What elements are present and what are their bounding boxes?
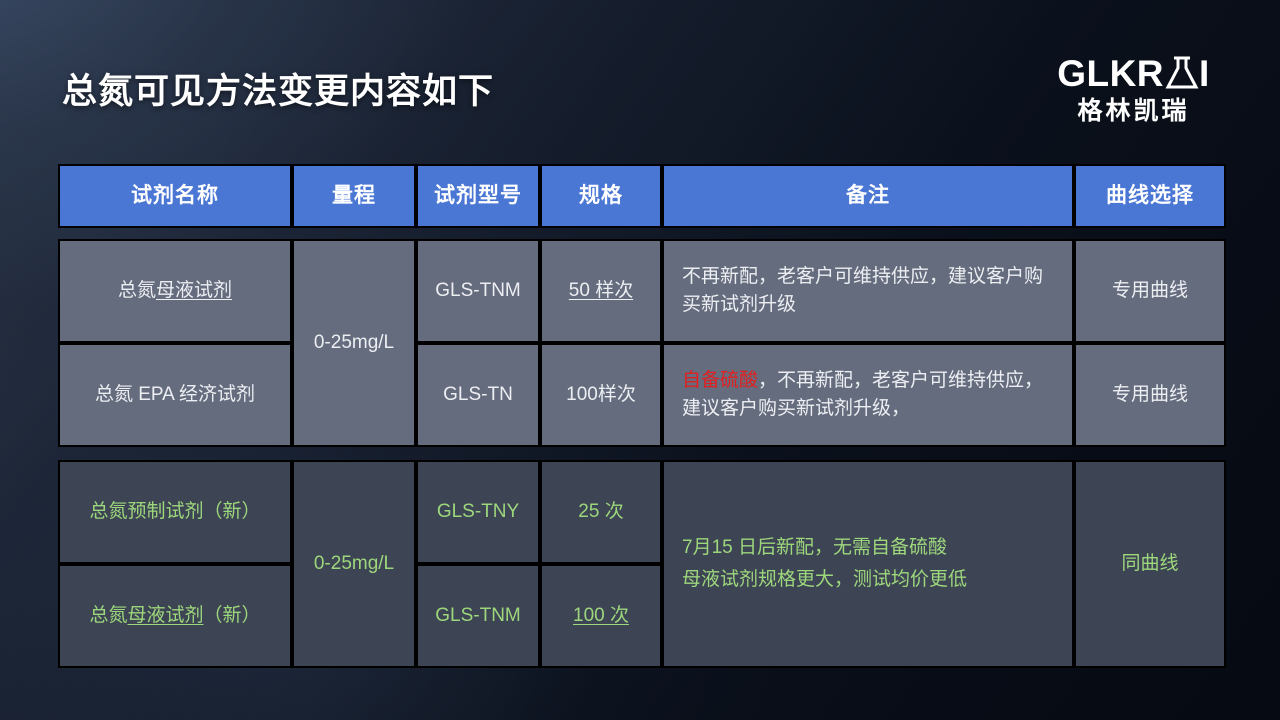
- reagent-name-text: 总氮母液试剂（新）: [89, 602, 260, 630]
- reagent-name-underlined: 母液试剂: [156, 280, 232, 301]
- column-header-remark: 备注: [662, 164, 1074, 228]
- reagent-name-text: 总氮母液试剂: [118, 277, 232, 305]
- curve-cell: 专用曲线: [1074, 343, 1226, 447]
- model-cell: GLS-TNM: [416, 239, 540, 343]
- section-spec-column: 50 样次 100样次: [540, 239, 662, 447]
- section-spec-column: 25 次 100 次: [540, 460, 662, 668]
- reagent-name-plain: 总氮: [118, 280, 156, 301]
- table-row: 总氮预制试剂（新）: [58, 460, 292, 564]
- logo-subtitle: 格林凯瑞: [1031, 99, 1236, 124]
- section-remark-column: 不再新配，老客户可维持供应，建议客户购买新试剂升级 自备硫酸，不再新配，老客户可…: [662, 239, 1074, 447]
- reagent-name-text: 总氮 EPA 经济试剂: [95, 381, 255, 409]
- spec-cell: 25 次: [540, 460, 662, 564]
- spec-cell: 50 样次: [540, 239, 662, 343]
- page-title: 总氮可见方法变更内容如下: [62, 63, 494, 114]
- spec-cell: 100 次: [540, 564, 662, 668]
- logo-wordmark: GLK R I: [1031, 52, 1236, 94]
- remark-text-composite: 自备硫酸，不再新配，老客户可维持供应，建议客户购买新试剂升级，: [682, 367, 1058, 422]
- column-header-reagent-name: 试剂名称: [58, 164, 292, 228]
- curve-cell-merged: 同曲线: [1074, 460, 1226, 668]
- spec-text: 100 次: [573, 602, 629, 630]
- remark-cell: 不再新配，老客户可维持供应，建议客户购买新试剂升级: [662, 239, 1074, 343]
- table-section-old-reagents: 总氮母液试剂 总氮 EPA 经济试剂 0-25mg/L GLS-TNM GLS-…: [58, 239, 1226, 447]
- table-section-new-reagents: 总氮预制试剂（新） 总氮母液试剂（新） 0-25mg/L GLS-TNY GLS…: [58, 460, 1226, 668]
- flask-icon: [1165, 55, 1199, 91]
- model-cell: GLS-TNM: [416, 564, 540, 668]
- reagent-name-suffix: （新）: [204, 501, 261, 522]
- logo-text-left: GLK: [1057, 55, 1137, 92]
- remark-cell: 自备硫酸，不再新配，老客户可维持供应，建议客户购买新试剂升级，: [662, 343, 1074, 447]
- reagent-name-plain: 总氮: [89, 605, 127, 626]
- column-header-spec: 规格: [540, 164, 662, 228]
- logo-text-right: I: [1199, 55, 1210, 92]
- section-curve-column: 专用曲线 专用曲线: [1074, 239, 1226, 447]
- remark-text-merged: 7月15 日后新配，无需自备硫酸 母液试剂规格更大，测试均价更低: [682, 532, 967, 597]
- reagent-name-text: 总氮预制试剂（新）: [89, 498, 260, 526]
- section-name-column: 总氮母液试剂 总氮 EPA 经济试剂: [58, 239, 292, 447]
- reagent-name-suffix: （新）: [204, 605, 261, 626]
- curve-cell: 专用曲线: [1074, 239, 1226, 343]
- reagent-name-plain: 总氮预制试剂: [89, 501, 203, 522]
- remark-text: 不再新配，老客户可维持供应，建议客户购买新试剂升级: [682, 263, 1058, 318]
- slide-canvas: 总氮可见方法变更内容如下 GLK R I 格林凯瑞 试剂名称 量程 试剂型号 规…: [0, 0, 1280, 720]
- comparison-table: 试剂名称 量程 试剂型号 规格 备注 曲线选择 总氮母液试剂 总氮 EPA 经济…: [58, 164, 1226, 668]
- table-row: 总氮 EPA 经济试剂: [58, 343, 292, 447]
- remark-highlight: 自备硫酸: [682, 370, 758, 391]
- column-header-model: 试剂型号: [416, 164, 540, 228]
- remark-line-2: 母液试剂规格更大，测试均价更低: [682, 569, 967, 590]
- column-header-range: 量程: [292, 164, 416, 228]
- model-cell: GLS-TN: [416, 343, 540, 447]
- table-row: 总氮母液试剂: [58, 239, 292, 343]
- section-model-column: GLS-TNM GLS-TN: [416, 239, 540, 447]
- spec-text: 50 样次: [569, 277, 633, 305]
- section-name-column: 总氮预制试剂（新） 总氮母液试剂（新）: [58, 460, 292, 668]
- logo-text-mid: R: [1137, 55, 1164, 92]
- spec-cell: 100样次: [540, 343, 662, 447]
- remark-line-1: 7月15 日后新配，无需自备硫酸: [682, 537, 947, 558]
- table-header-row: 试剂名称 量程 试剂型号 规格 备注 曲线选择: [58, 164, 1226, 228]
- range-cell-old: 0-25mg/L: [292, 239, 416, 447]
- column-header-curve: 曲线选择: [1074, 164, 1226, 228]
- range-cell-new: 0-25mg/L: [292, 460, 416, 668]
- model-cell: GLS-TNY: [416, 460, 540, 564]
- remark-cell-merged: 7月15 日后新配，无需自备硫酸 母液试剂规格更大，测试均价更低: [662, 460, 1074, 668]
- brand-logo: GLK R I 格林凯瑞: [1031, 52, 1236, 124]
- table-row: 总氮母液试剂（新）: [58, 564, 292, 668]
- section-model-column: GLS-TNY GLS-TNM: [416, 460, 540, 668]
- reagent-name-underlined: 母液试剂: [127, 605, 203, 626]
